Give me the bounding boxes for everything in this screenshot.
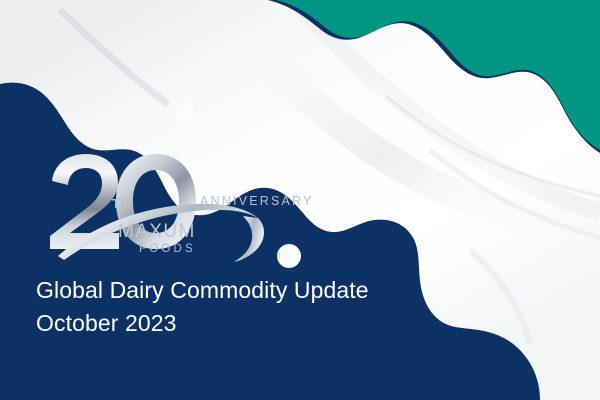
logo-ordinal-suffix: TH xyxy=(112,196,131,211)
title-block: Global Dairy Commodity Update October 20… xyxy=(36,274,466,340)
logo-numeral-two xyxy=(50,154,119,249)
logo-brand-name: MAXUM xyxy=(118,221,196,242)
slide-canvas: TH ANNIVERSARY MAXUM FOODS Global Dairy … xyxy=(0,0,600,400)
title-line-date: October 2023 xyxy=(36,307,466,340)
maxum-foods-anniversary-logo: TH ANNIVERSARY MAXUM FOODS xyxy=(44,152,284,262)
title-line-primary: Global Dairy Commodity Update xyxy=(36,274,466,307)
logo-brand-sub: FOODS xyxy=(139,243,196,255)
